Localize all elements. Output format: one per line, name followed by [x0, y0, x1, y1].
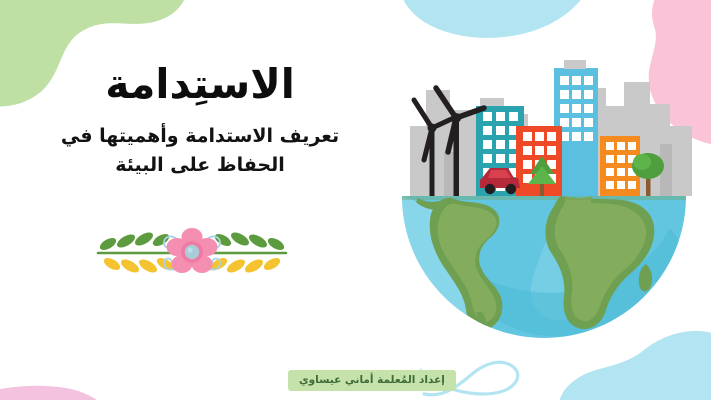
city-skyline — [410, 60, 692, 196]
earth-with-city-illustration — [384, 48, 704, 348]
slide-canvas: الاستِدامة تعريف الاستدامة وأهميتها في ا… — [0, 0, 711, 400]
globe — [398, 196, 686, 338]
floral-divider — [92, 224, 292, 282]
pink-blob-bottom-left — [0, 296, 220, 400]
title-block: الاستِدامة تعريف الاستدامة وأهميتها في ا… — [20, 62, 380, 180]
page-subtitle: تعريف الاستدامة وأهميتها في الحفاظ على ا… — [56, 122, 344, 180]
page-title: الاستِدامة — [20, 62, 380, 108]
footer-credit-label: إعداد المُعلمة أماني عيساوي — [299, 374, 445, 386]
footer-credit-badge: إعداد المُعلمة أماني عيساوي — [288, 370, 456, 391]
